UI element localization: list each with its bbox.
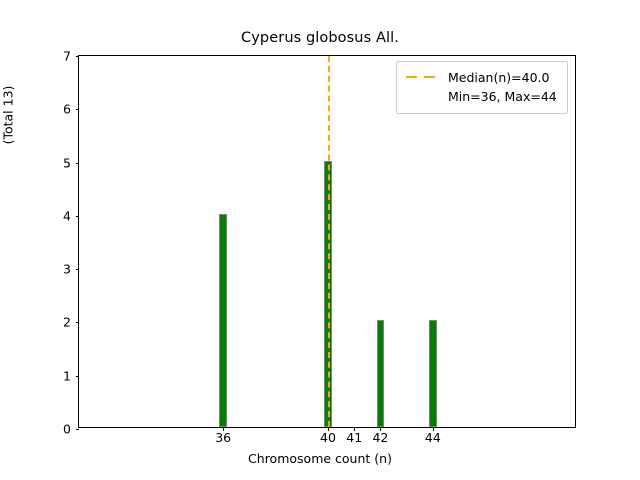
median-line	[328, 56, 330, 427]
x-tick-label: 42	[372, 430, 388, 445]
y-tick-label: 0	[11, 422, 71, 437]
x-axis-label: Chromosome count (n)	[0, 451, 640, 466]
legend-label-range: Min=36, Max=44	[448, 89, 557, 104]
y-tick-label: 5	[11, 155, 71, 170]
dashed-line-icon	[405, 73, 439, 83]
y-tick-label: 1	[11, 368, 71, 383]
x-tick-label: 36	[215, 430, 231, 445]
y-tick-label: 7	[11, 49, 71, 64]
y-tick-label: 3	[11, 262, 71, 277]
y-tick-label: 2	[11, 315, 71, 330]
x-tick-label: 44	[425, 430, 441, 445]
y-tick-label: 6	[11, 102, 71, 117]
x-tick-label: 41	[346, 430, 362, 445]
legend-entry-range: Min=36, Max=44	[405, 87, 559, 106]
page-title: Cyperus globosus All.	[0, 30, 640, 46]
legend-label-median: Median(n)=40.0	[448, 70, 549, 85]
y-tick-mark	[76, 429, 80, 430]
legend-entry-median: Median(n)=40.0	[405, 68, 559, 87]
x-tick-label: 40	[320, 430, 336, 445]
chart-figure: Cyperus globosus All. Num of counts (Tot…	[0, 0, 640, 480]
bar	[377, 320, 385, 427]
bar	[219, 214, 227, 427]
legend: Median(n)=40.0 Min=36, Max=44	[396, 61, 568, 114]
y-tick-label: 4	[11, 208, 71, 223]
bar	[429, 320, 437, 427]
